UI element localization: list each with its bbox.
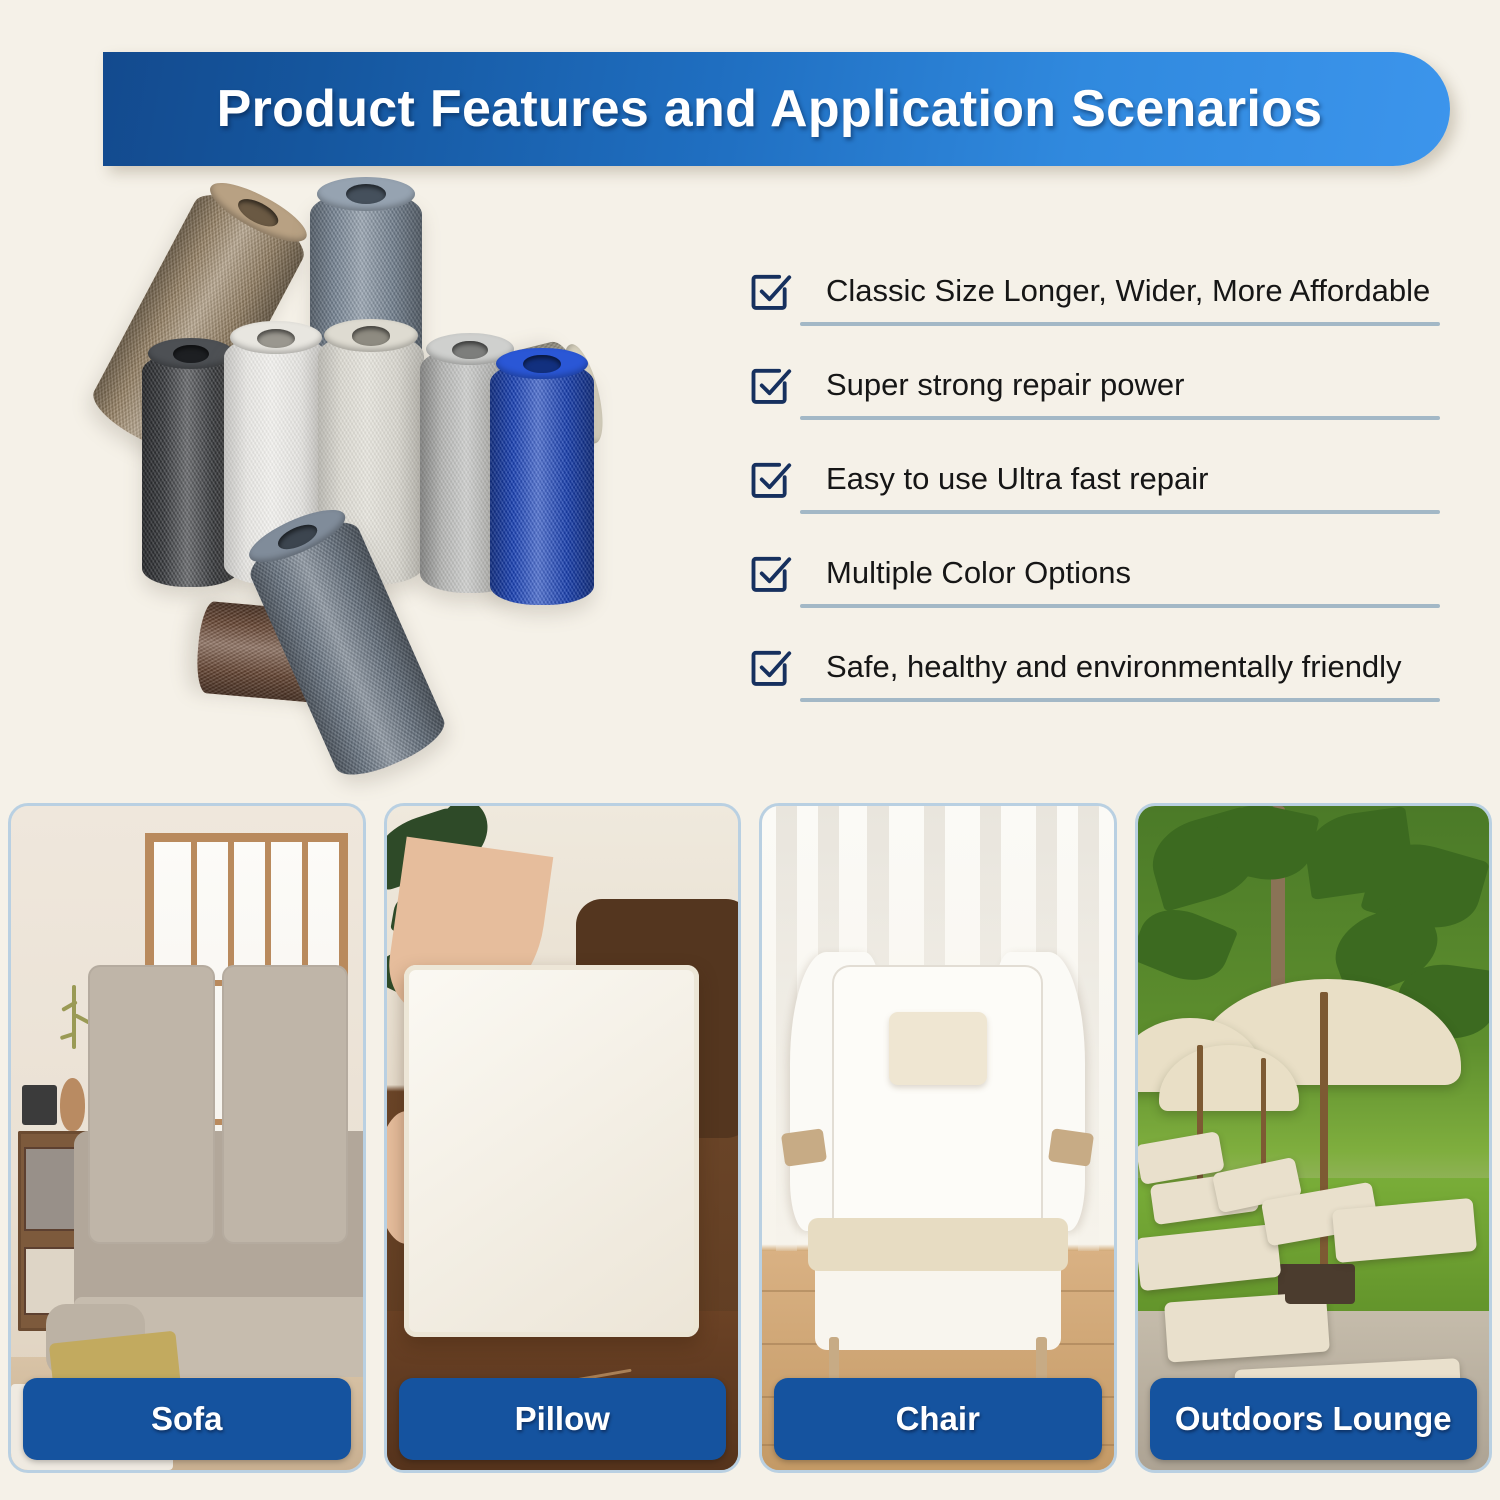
card-label-pillow: Pillow (399, 1378, 727, 1460)
feature-item: Safe, healthy and environmentally friend… (748, 638, 1448, 732)
feature-label: Safe, healthy and environmentally friend… (826, 649, 1402, 685)
card-label-outdoors-lounge: Outdoors Lounge (1150, 1378, 1478, 1460)
card-label-text: Outdoors Lounge (1175, 1400, 1452, 1438)
feature-item: Super strong repair power (748, 356, 1448, 450)
scenario-card-pillow[interactable]: Pillow (384, 803, 742, 1473)
outdoors-lounge-photo (1138, 806, 1490, 1470)
feature-divider (800, 416, 1440, 420)
feature-label: Classic Size Longer, Wider, More Afforda… (826, 273, 1430, 309)
product-image-tape-rolls (120, 185, 680, 765)
checkbox-checked-icon (748, 551, 792, 595)
checkbox-checked-icon (748, 645, 792, 689)
feature-item: Classic Size Longer, Wider, More Afforda… (748, 262, 1448, 356)
feature-label: Super strong repair power (826, 367, 1184, 403)
page-title: Product Features and Application Scenari… (217, 79, 1323, 139)
pillow-photo (387, 806, 739, 1470)
sofa-photo (11, 806, 363, 1470)
feature-divider (800, 698, 1440, 702)
header-banner: Product Features and Application Scenari… (103, 52, 1450, 166)
scenario-card-chair[interactable]: Chair (759, 803, 1117, 1473)
scenario-cards: Sofa Pillow (8, 803, 1492, 1473)
feature-divider (800, 510, 1440, 514)
checkbox-checked-icon (748, 363, 792, 407)
tape-roll-royal-blue (490, 361, 594, 605)
scenario-card-outdoors-lounge[interactable]: Outdoors Lounge (1135, 803, 1493, 1473)
card-label-sofa: Sofa (23, 1378, 351, 1460)
checkbox-checked-icon (748, 457, 792, 501)
feature-list: Classic Size Longer, Wider, More Afforda… (748, 262, 1448, 732)
feature-divider (800, 604, 1440, 608)
card-label-text: Chair (896, 1400, 980, 1438)
feature-item: Multiple Color Options (748, 544, 1448, 638)
card-label-text: Sofa (151, 1400, 223, 1438)
feature-item: Easy to use Ultra fast repair (748, 450, 1448, 544)
scenario-card-sofa[interactable]: Sofa (8, 803, 366, 1473)
feature-divider (800, 322, 1440, 326)
feature-label: Easy to use Ultra fast repair (826, 461, 1209, 497)
card-label-chair: Chair (774, 1378, 1102, 1460)
feature-label: Multiple Color Options (826, 555, 1131, 591)
card-label-text: Pillow (515, 1400, 610, 1438)
chair-photo (762, 806, 1114, 1470)
checkbox-checked-icon (748, 269, 792, 313)
